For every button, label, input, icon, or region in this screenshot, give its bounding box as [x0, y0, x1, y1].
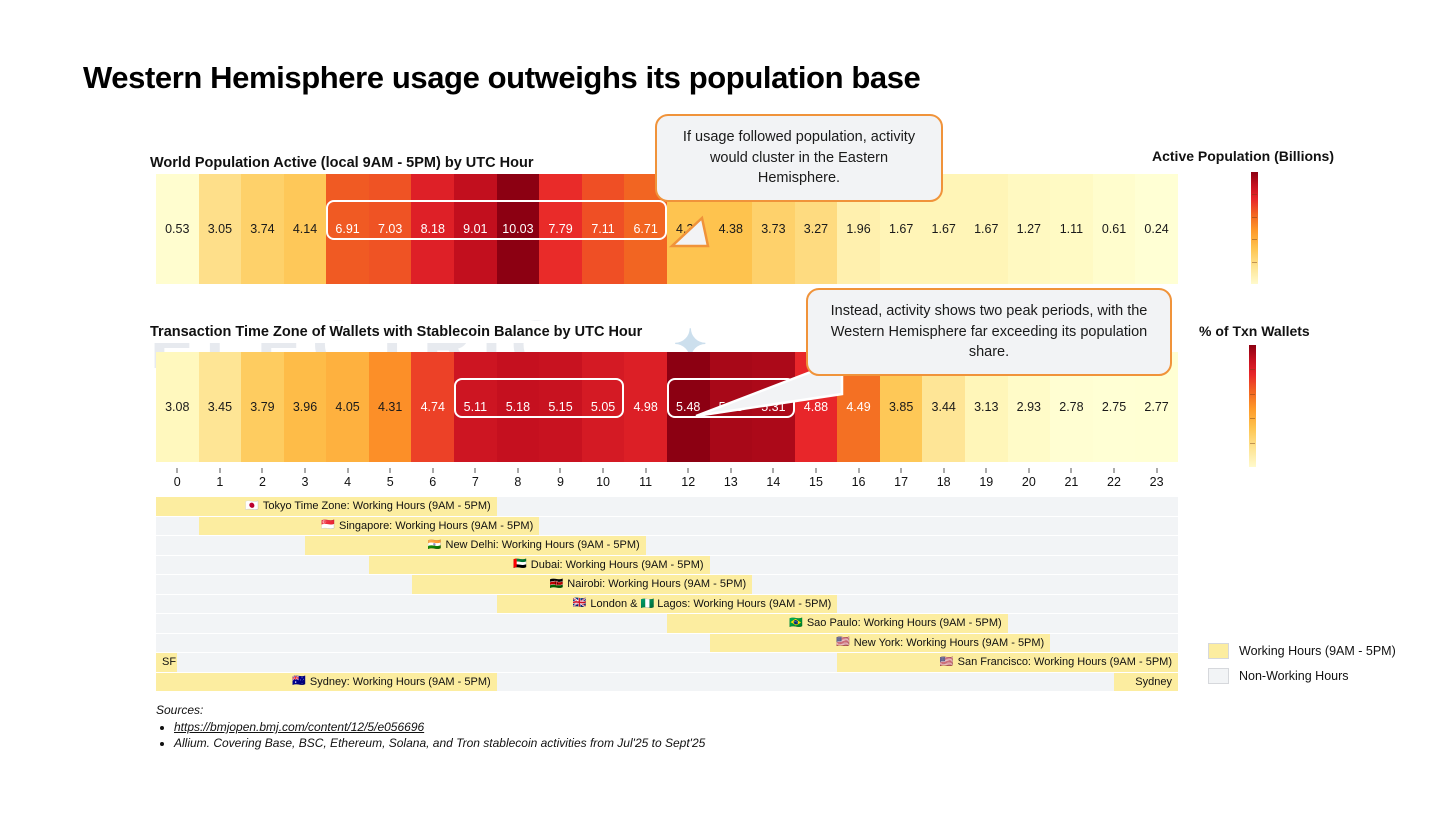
- axis-hour-label: 1: [216, 475, 223, 489]
- heatmap-cell-value: 8.18: [421, 222, 445, 236]
- heatmap-cell: 1.27: [1008, 174, 1051, 284]
- timezone-label: 🇦🇪Dubai: Working Hours (9AM - 5PM): [369, 556, 710, 575]
- colorbar-tick: [1252, 262, 1257, 263]
- heatmap-cell: 3.08: [156, 352, 199, 462]
- timezone-row: 🇬🇧London & 🇳🇬 Lagos: Working Hours (9AM …: [156, 595, 1178, 615]
- timezone-row: 🇯🇵Tokyo Time Zone: Working Hours (9AM - …: [156, 497, 1178, 517]
- heatmap-cell: 3.79: [241, 352, 284, 462]
- timezone-label-text: San Francisco: Working Hours (9AM - 5PM): [958, 656, 1172, 668]
- heatmap-cell-value: 3.27: [804, 222, 828, 236]
- heatmap-cell-value: 0.53: [165, 222, 189, 236]
- axis-hour-label: 21: [1064, 475, 1078, 489]
- heatmap-cell: 5.11: [454, 352, 497, 462]
- colorbar-tick: [1252, 217, 1257, 218]
- wallets-colorbar: [1249, 345, 1256, 467]
- axis-hour-label: 19: [979, 475, 993, 489]
- heatmap-cell: 5.18: [497, 352, 540, 462]
- axis-hour-tick: 8: [497, 468, 540, 496]
- axis-hour-label: 12: [681, 475, 695, 489]
- heatmap-cell-value: 0.61: [1102, 222, 1126, 236]
- heatmap-cell: 10.03: [497, 174, 540, 284]
- axis-tick-mark: [986, 468, 987, 473]
- heatmap-cell-value: 4.38: [719, 222, 743, 236]
- axis-hour-tick: 21: [1050, 468, 1093, 496]
- heatmap-cell: 0.53: [156, 174, 199, 284]
- axis-tick-mark: [1028, 468, 1029, 473]
- axis-tick-mark: [347, 468, 348, 473]
- heatmap-cell: 7.11: [582, 174, 625, 284]
- axis-hour-label: 17: [894, 475, 908, 489]
- axis-hour-label: 23: [1150, 475, 1164, 489]
- axis-hour-label: 13: [724, 475, 738, 489]
- heatmap-cell-value: 7.11: [591, 222, 614, 236]
- timezone-label: 🇦🇺Sydney: Working Hours (9AM - 5PM): [156, 673, 497, 692]
- timezone-row: 🇺🇸San Francisco: Working Hours (9AM - 5P…: [156, 653, 1178, 673]
- axis-tick-mark: [773, 468, 774, 473]
- legend-item: Non-Working Hours: [1208, 668, 1396, 684]
- timezone-label: 🇰🇪Nairobi: Working Hours (9AM - 5PM): [412, 575, 753, 594]
- axis-hour-tick: 23: [1135, 468, 1178, 496]
- heatmap-cell-value: 2.93: [1017, 400, 1041, 414]
- timezone-label: 🇺🇸New York: Working Hours (9AM - 5PM): [710, 634, 1051, 653]
- axis-hour-label: 16: [852, 475, 866, 489]
- axis-hour-label: 8: [514, 475, 521, 489]
- heatmap-cell-value: 3.79: [250, 400, 274, 414]
- wallets-colorbar-label: % of Txn Wallets: [1199, 323, 1310, 339]
- axis-hour-label: 5: [387, 475, 394, 489]
- utc-hour-axis: 01234567891011121314151617181920212223: [156, 468, 1178, 496]
- heatmap-cell-value: 1.67: [889, 222, 913, 236]
- heatmap-cell-value: 7.79: [548, 222, 572, 236]
- heatmap-cell: 4.31: [369, 352, 412, 462]
- heatmap-cell-value: 5.11: [464, 400, 487, 414]
- population-colorbar: [1251, 172, 1258, 284]
- timezone-row: 🇮🇳New Delhi: Working Hours (9AM - 5PM): [156, 536, 1178, 556]
- heatmap-cell-value: 7.03: [378, 222, 402, 236]
- axis-tick-mark: [688, 468, 689, 473]
- heatmap-cell-value: 4.74: [421, 400, 445, 414]
- heatmap-cell-value: 1.11: [1060, 222, 1083, 236]
- heatmap-cell: 8.18: [411, 174, 454, 284]
- timezone-wrap-label-text: SF: [162, 656, 176, 668]
- colorbar-tick: [1250, 418, 1255, 419]
- heatmap-cell: 7.79: [539, 174, 582, 284]
- timezone-wrap-label: Sydney: [1114, 673, 1178, 692]
- heatmap-cell-value: 4.31: [378, 400, 402, 414]
- timezone-label: 🇧🇷Sao Paulo: Working Hours (9AM - 5PM): [667, 614, 1008, 633]
- heatmap-cell-value: 3.08: [165, 400, 189, 414]
- timezone-label-text: Sao Paulo: Working Hours (9AM - 5PM): [807, 617, 1002, 629]
- axis-tick-mark: [1156, 468, 1157, 473]
- axis-hour-tick: 9: [539, 468, 582, 496]
- axis-tick-mark: [475, 468, 476, 473]
- colorbar-tick: [1252, 194, 1257, 195]
- timezone-label-text: Tokyo Time Zone: Working Hours (9AM - 5P…: [263, 500, 491, 512]
- axis-tick-mark: [262, 468, 263, 473]
- timezone-label: 🇺🇸San Francisco: Working Hours (9AM - 5P…: [837, 653, 1178, 672]
- axis-tick-mark: [305, 468, 306, 473]
- timezone-row: 🇰🇪Nairobi: Working Hours (9AM - 5PM): [156, 575, 1178, 595]
- axis-tick-mark: [177, 468, 178, 473]
- colorbar-tick: [1250, 394, 1255, 395]
- timezone-label: 🇸🇬Singapore: Working Hours (9AM - 5PM): [199, 517, 540, 536]
- heatmap-cell-value: 5.05: [591, 400, 615, 414]
- legend-swatch: [1208, 643, 1229, 659]
- heatmap-cell-value: 2.78: [1059, 400, 1083, 414]
- axis-hour-label: 3: [302, 475, 309, 489]
- heatmap-cell: 4.74: [411, 352, 454, 462]
- timezone-wrap-label-text: Sydney: [1135, 676, 1172, 688]
- axis-hour-tick: 20: [1008, 468, 1051, 496]
- timezone-label: 🇯🇵Tokyo Time Zone: Working Hours (9AM - …: [156, 497, 497, 516]
- axis-hour-tick: 4: [326, 468, 369, 496]
- axis-hour-label: 18: [937, 475, 951, 489]
- infographic-page: Western Hemisphere usage outweighs its p…: [0, 0, 1456, 819]
- legend-swatch: [1208, 668, 1229, 684]
- callout-1-tail: [630, 200, 720, 260]
- callout-population: If usage followed population, activity w…: [655, 114, 943, 202]
- timezone-wrap-label: SF: [156, 653, 177, 672]
- heatmap-cell: 4.05: [326, 352, 369, 462]
- heatmap-cell: 4.14: [284, 174, 327, 284]
- axis-hour-label: 2: [259, 475, 266, 489]
- timezone-label-text: Singapore: Working Hours (9AM - 5PM): [339, 520, 533, 532]
- timezone-label-text: London & 🇳🇬 Lagos: Working Hours (9AM - …: [590, 597, 831, 610]
- axis-tick-mark: [219, 468, 220, 473]
- population-heatmap-title: World Population Active (local 9AM - 5PM…: [150, 152, 539, 174]
- legend-item: Working Hours (9AM - 5PM): [1208, 643, 1396, 659]
- country-flag-icon: 🇧🇷: [789, 618, 803, 629]
- axis-tick-mark: [645, 468, 646, 473]
- country-flag-icon: 🇦🇪: [513, 559, 527, 570]
- page-title: Western Hemisphere usage outweighs its p…: [83, 60, 920, 96]
- axis-hour-tick: 15: [795, 468, 838, 496]
- axis-tick-mark: [432, 468, 433, 473]
- callout-wallets: Instead, activity shows two peak periods…: [806, 288, 1172, 376]
- axis-tick-mark: [730, 468, 731, 473]
- country-flag-icon: 🇮🇳: [428, 540, 442, 551]
- axis-tick-mark: [390, 468, 391, 473]
- axis-hour-tick: 18: [922, 468, 965, 496]
- axis-hour-label: 7: [472, 475, 479, 489]
- axis-hour-tick: 19: [965, 468, 1008, 496]
- source-link[interactable]: https://bmjopen.bmj.com/content/12/5/e05…: [174, 720, 424, 734]
- sources-heading: Sources:: [156, 703, 705, 717]
- heatmap-cell: 3.45: [199, 352, 242, 462]
- country-flag-icon: 🇺🇸: [836, 637, 850, 648]
- axis-hour-tick: 1: [199, 468, 242, 496]
- axis-hour-tick: 12: [667, 468, 710, 496]
- country-flag-icon: 🇬🇧: [573, 598, 587, 609]
- axis-hour-label: 10: [596, 475, 610, 489]
- timezone-row: 🇸🇬Singapore: Working Hours (9AM - 5PM): [156, 517, 1178, 537]
- timezone-row: 🇦🇺Sydney: Working Hours (9AM - 5PM)Sydne…: [156, 673, 1178, 693]
- colorbar-tick: [1250, 369, 1255, 370]
- heatmap-cell-value: 2.75: [1102, 400, 1126, 414]
- heatmap-cell-value: 3.74: [250, 222, 274, 236]
- country-flag-icon: 🇸🇬: [321, 520, 335, 531]
- wallets-heatmap-title: Transaction Time Zone of Wallets with St…: [150, 321, 648, 343]
- axis-hour-tick: 7: [454, 468, 497, 496]
- heatmap-cell-value: 3.85: [889, 400, 913, 414]
- axis-tick-mark: [858, 468, 859, 473]
- heatmap-cell-value: 4.05: [335, 400, 359, 414]
- country-flag-icon: 🇦🇺: [292, 676, 306, 687]
- axis-tick-mark: [560, 468, 561, 473]
- heatmap-cell-value: 1.27: [1017, 222, 1041, 236]
- timezone-label: 🇬🇧London & 🇳🇬 Lagos: Working Hours (9AM …: [497, 595, 838, 614]
- axis-hour-tick: 17: [880, 468, 923, 496]
- heatmap-cell-value: 0.24: [1144, 222, 1168, 236]
- axis-hour-tick: 3: [284, 468, 327, 496]
- axis-hour-label: 4: [344, 475, 351, 489]
- axis-hour-tick: 22: [1093, 468, 1136, 496]
- axis-tick-mark: [943, 468, 944, 473]
- axis-tick-mark: [1114, 468, 1115, 473]
- heatmap-cell-value: 3.05: [208, 222, 232, 236]
- heatmap-cell-value: 2.77: [1144, 400, 1168, 414]
- heatmap-cell-value: 3.45: [208, 400, 232, 414]
- country-flag-icon: 🇯🇵: [245, 501, 259, 512]
- heatmap-cell-value: 5.18: [506, 400, 530, 414]
- axis-hour-label: 6: [429, 475, 436, 489]
- timezone-row: 🇧🇷Sao Paulo: Working Hours (9AM - 5PM): [156, 614, 1178, 634]
- timezone-label-text: New York: Working Hours (9AM - 5PM): [854, 637, 1045, 649]
- axis-hour-tick: 5: [369, 468, 412, 496]
- timezone-label: 🇮🇳New Delhi: Working Hours (9AM - 5PM): [305, 536, 646, 555]
- heatmap-cell: 0.61: [1093, 174, 1136, 284]
- axis-hour-label: 9: [557, 475, 564, 489]
- population-colorbar-label: Active Population (Billions): [1152, 148, 1334, 164]
- axis-tick-mark: [901, 468, 902, 473]
- axis-hour-tick: 10: [582, 468, 625, 496]
- timezone-label-text: Dubai: Working Hours (9AM - 5PM): [531, 559, 704, 571]
- source-item[interactable]: https://bmjopen.bmj.com/content/12/5/e05…: [174, 720, 705, 734]
- axis-hour-tick: 11: [624, 468, 667, 496]
- heatmap-cell: 3.05: [199, 174, 242, 284]
- timezone-row: 🇦🇪Dubai: Working Hours (9AM - 5PM): [156, 556, 1178, 576]
- timezone-row: 🇺🇸New York: Working Hours (9AM - 5PM): [156, 634, 1178, 654]
- sources-block: Sources: https://bmjopen.bmj.com/content…: [156, 703, 705, 750]
- axis-hour-tick: 14: [752, 468, 795, 496]
- heatmap-cell-value: 9.01: [463, 222, 487, 236]
- axis-hour-tick: 13: [710, 468, 753, 496]
- heatmap-cell: 1.11: [1050, 174, 1093, 284]
- axis-hour-label: 15: [809, 475, 823, 489]
- country-flag-icon: 🇰🇪: [550, 579, 564, 590]
- heatmap-cell-value: 1.96: [846, 222, 870, 236]
- heatmap-cell: 3.96: [284, 352, 327, 462]
- sources-list: https://bmjopen.bmj.com/content/12/5/e05…: [174, 720, 705, 750]
- heatmap-cell-value: 3.73: [761, 222, 785, 236]
- heatmap-cell-value: 10.03: [502, 222, 533, 236]
- heatmap-cell: 0.24: [1135, 174, 1178, 284]
- heatmap-cell: 3.74: [241, 174, 284, 284]
- axis-hour-tick: 0: [156, 468, 199, 496]
- heatmap-cell: 4.98: [624, 352, 667, 462]
- timezone-label-text: New Delhi: Working Hours (9AM - 5PM): [446, 539, 640, 551]
- axis-hour-label: 20: [1022, 475, 1036, 489]
- heatmap-cell-value: 1.67: [932, 222, 956, 236]
- axis-hour-tick: 2: [241, 468, 284, 496]
- axis-hour-tick: 6: [411, 468, 454, 496]
- legend-label: Non-Working Hours: [1239, 669, 1349, 683]
- heatmap-cell-value: 3.13: [974, 400, 998, 414]
- axis-tick-mark: [1071, 468, 1072, 473]
- heatmap-cell: 9.01: [454, 174, 497, 284]
- heatmap-cell-value: 4.14: [293, 222, 317, 236]
- country-flag-icon: 🇺🇸: [940, 657, 954, 668]
- heatmap-cell: 5.05: [582, 352, 625, 462]
- timezone-label-text: Nairobi: Working Hours (9AM - 5PM): [567, 578, 746, 590]
- heatmap-cell: 5.15: [539, 352, 582, 462]
- axis-tick-mark: [603, 468, 604, 473]
- heatmap-cell-value: 6.91: [335, 222, 359, 236]
- timezone-gantt: 🇯🇵Tokyo Time Zone: Working Hours (9AM - …: [156, 497, 1178, 692]
- heatmap-cell-value: 4.49: [846, 400, 870, 414]
- legend-label: Working Hours (9AM - 5PM): [1239, 644, 1396, 658]
- axis-tick-mark: [815, 468, 816, 473]
- axis-hour-label: 22: [1107, 475, 1121, 489]
- axis-hour-label: 11: [639, 475, 652, 489]
- colorbar-tick: [1252, 239, 1257, 240]
- heatmap-cell-value: 3.44: [932, 400, 956, 414]
- heatmap-cell: 7.03: [369, 174, 412, 284]
- axis-tick-mark: [517, 468, 518, 473]
- axis-hour-label: 0: [174, 475, 181, 489]
- timezone-label-text: Sydney: Working Hours (9AM - 5PM): [310, 676, 491, 688]
- heatmap-cell-value: 5.15: [548, 400, 572, 414]
- heatmap-cell: 6.91: [326, 174, 369, 284]
- heatmap-cell-value: 3.96: [293, 400, 317, 414]
- heatmap-cell-value: 1.67: [974, 222, 998, 236]
- working-hours-legend: Working Hours (9AM - 5PM)Non-Working Hou…: [1208, 643, 1396, 693]
- axis-hour-label: 14: [766, 475, 780, 489]
- heatmap-cell-value: 4.98: [633, 400, 657, 414]
- heatmap-cell: 1.67: [965, 174, 1008, 284]
- colorbar-tick: [1250, 443, 1255, 444]
- source-item: Allium. Covering Base, BSC, Ethereum, So…: [174, 736, 705, 750]
- axis-hour-tick: 16: [837, 468, 880, 496]
